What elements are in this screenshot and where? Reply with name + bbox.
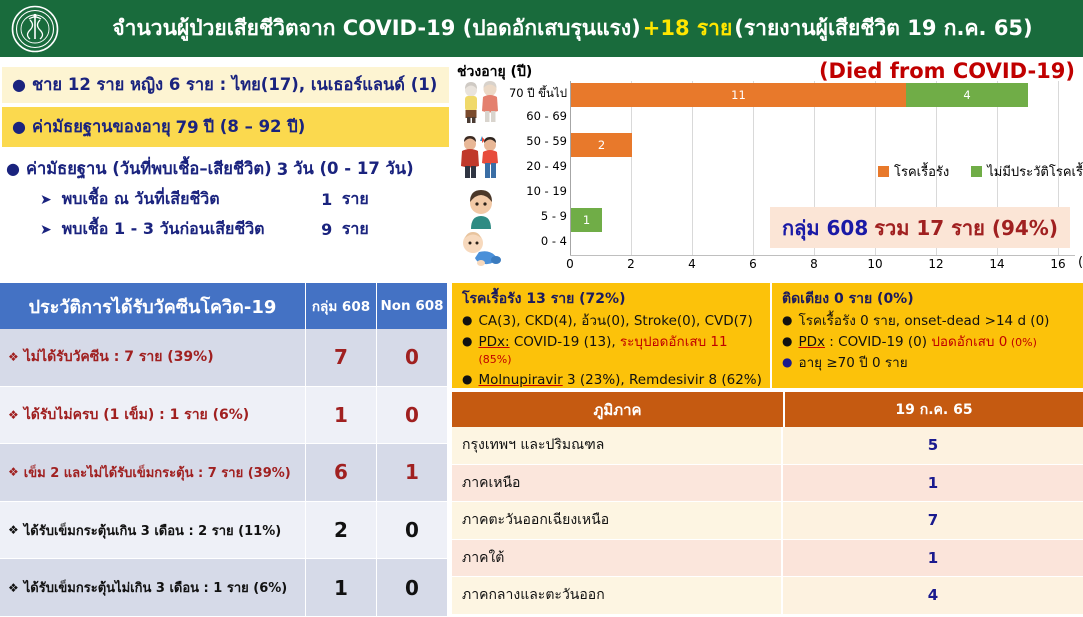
- drug-text: 3 (23%), Remdesivir 8 (62%): [563, 372, 762, 388]
- row-label: ❖ เข็ม 2 และไม่ได้รับเข็มกระตุ้น : 7 ราย…: [0, 444, 305, 501]
- row-value-non608: 0: [376, 329, 447, 386]
- cat-label: 50 - 59: [526, 134, 567, 148]
- column-header-non608: Non 608: [376, 283, 447, 329]
- summary-line2-value: 79: [176, 118, 199, 137]
- row-label: ❖ ได้รับเข็มกระตุ้นไม่เกิน 3 เดือน : 1 ร…: [0, 559, 305, 616]
- x-tick: 6: [749, 257, 757, 271]
- cat-label: 60 - 69: [526, 109, 567, 123]
- summary-line2-post: ปี (8 – 92 ปี): [204, 114, 306, 140]
- pdx-text: : COVID-19 (0): [825, 334, 927, 350]
- chart-plot-area: 11 4 2 1 0 2 4 6 8 10 12 14 16 (ราย) จำน…: [570, 81, 1075, 255]
- region-value: 5: [783, 427, 1083, 464]
- row-value-non608: 1: [376, 444, 447, 501]
- x-tick: 16: [1050, 257, 1065, 271]
- bullet-dot-icon: ●: [462, 334, 472, 350]
- row-value-608: 7: [305, 329, 376, 386]
- bullet-dot-icon: ●: [782, 355, 792, 371]
- summary-line3-value: 3: [277, 160, 288, 179]
- region-name: ภาคเหนือ: [452, 465, 783, 502]
- column-header-date: 19 ก.ค. 65: [785, 392, 1083, 427]
- arrow-right-icon: ➤: [40, 192, 52, 208]
- x-tick: 0: [566, 257, 574, 271]
- page-title-post: (รายงานผู้เสียชีวิต 19 ก.ค. 65): [734, 12, 1032, 45]
- row-label-text: ไม่ได้รับวัคซีน : 7 ราย (39%): [24, 346, 214, 368]
- pdx-red-pct: (85%): [478, 353, 511, 366]
- row-value-608: 2: [305, 502, 376, 559]
- chart-gridline: [753, 81, 754, 255]
- region-value: 1: [783, 540, 1083, 577]
- legend-label: ไม่มีประวัติโรคเรื้องรัง: [987, 161, 1083, 182]
- summary-sub-label: พบเชื้อ ณ วันที่เสียชีวิต: [62, 187, 312, 212]
- diamond-bullet-icon: ❖: [8, 350, 19, 364]
- column-header-history: ประวัติการได้รับวัคซีนโควิด-19: [0, 283, 305, 329]
- arrow-right-icon: ➤: [40, 222, 52, 238]
- chronic-box-item: ● PDx: COVID-19 (13), ระบุปอดอักเสบ 11 (…: [462, 334, 762, 368]
- thai-ministry-of-public-health-seal-icon: [10, 4, 60, 54]
- diamond-bullet-icon: ❖: [8, 408, 19, 422]
- bedridden-box-item: ● อายุ ≥70 ปี 0 ราย: [782, 355, 1075, 372]
- bar-70plus-chronic: 11: [571, 83, 906, 107]
- bar-5-9-nochronic: 1: [571, 208, 602, 232]
- summary-line2-pre: ค่ามัธยฐานของอายุ: [32, 114, 171, 140]
- bullet-dot-icon: ●: [6, 161, 20, 177]
- pdx-label: PDx: [798, 334, 825, 350]
- row-value-608: 1: [305, 559, 376, 616]
- region-value: 7: [783, 502, 1083, 539]
- pdx-red-text: ปอดอักเสบ 0: [927, 334, 1007, 350]
- table-row: ❖ เข็ม 2 และไม่ได้รับเข็มกระตุ้น : 7 ราย…: [0, 444, 447, 502]
- summary-line3-pre: ค่ามัธยฐาน (วันที่พบเชื้อ–เสียชีวิต): [26, 156, 272, 182]
- table-row: ภาคใต้ 1: [452, 540, 1083, 578]
- summary-sub-unit: ราย: [342, 217, 369, 242]
- page-title: จำนวนผู้ป่วยเสียชีวิตจาก COVID-19 (ปอดอั…: [70, 0, 1075, 57]
- pdx-red-text: ระบุปอดอักเสบ 11: [616, 334, 728, 350]
- bedridden-item-text: โรคเรื้อรัง 0 ราย, onset-dead >14 d (0): [798, 313, 1049, 330]
- table-row: กรุงเทพฯ และปริมณฑล 5: [452, 427, 1083, 465]
- chart-category-labels: 70 ปี ขึ้นไป 60 - 69 50 - 59 20 - 49 10 …: [507, 81, 567, 255]
- x-tick: 4: [688, 257, 696, 271]
- drug-label: Molnupiravir: [478, 372, 562, 388]
- diamond-bullet-icon: ❖: [8, 523, 19, 537]
- summary-sub-label: พบเชื้อ 1 - 3 วันก่อนเสียชีวิต: [62, 217, 312, 242]
- x-tick: 14: [989, 257, 1004, 271]
- table-row: ❖ ได้รับไม่ครบ (1 เข็ม) : 1 ราย (6%) 1 0: [0, 387, 447, 445]
- legend-label: โรคเรื้อรัง: [894, 161, 949, 182]
- bar-70plus-nochronic: 4: [906, 83, 1028, 107]
- baby-icon: [455, 229, 507, 269]
- callout-total-label: รวม 17 ราย (94%): [874, 212, 1058, 244]
- cat-label: 0 - 4: [541, 234, 567, 248]
- x-tick: 10: [867, 257, 882, 271]
- cat-label: 5 - 9: [541, 209, 567, 223]
- table-header-row: ประวัติการได้รับวัคซีนโควิด-19 กลุ่ม 608…: [0, 283, 447, 329]
- chart-legend: โรคเรื้อรัง ไม่มีประวัติโรคเรื้องรัง: [878, 161, 1083, 182]
- adults-icon: [455, 134, 507, 184]
- bar-50-59-chronic: 2: [571, 133, 632, 157]
- row-value-608: 1: [305, 387, 376, 444]
- age-group-deaths-chart: ช่วงอายุ (ปี) (Died from COVID-19): [452, 57, 1083, 283]
- chart-x-unit: (ราย): [1078, 251, 1083, 272]
- pdx-red-pct: (0%): [1007, 336, 1037, 349]
- pdx-text: COVID-19 (13),: [510, 334, 616, 350]
- x-tick: 2: [627, 257, 635, 271]
- bullet-dot-icon: ●: [782, 334, 792, 350]
- row-value-non608: 0: [376, 559, 447, 616]
- bullet-dot-icon: ●: [462, 372, 472, 388]
- legend-swatch-icon: [878, 166, 889, 177]
- chart-callout-608: กลุ่ม 608 รวม 17 ราย (94%): [770, 207, 1070, 248]
- row-label-text: ได้รับเข็มกระตุ้นเกิน 3 เดือน : 2 ราย (1…: [24, 520, 281, 541]
- bullet-dot-icon: ●: [462, 313, 472, 329]
- x-tick: 8: [810, 257, 818, 271]
- child-icon: [455, 189, 507, 231]
- cat-label: 10 - 19: [526, 184, 567, 198]
- cat-label: 20 - 49: [526, 159, 567, 173]
- x-tick: 12: [928, 257, 943, 271]
- row-label: ❖ ไม่ได้รับวัคซีน : 7 ราย (39%): [0, 329, 305, 386]
- summary-sub-item: ➤ พบเชื้อ 1 - 3 วันก่อนเสียชีวิต 9 ราย: [40, 217, 369, 242]
- table-row: ภาคตะวันออกเฉียงเหนือ 7: [452, 502, 1083, 540]
- vaccination-history-table: ประวัติการได้รับวัคซีนโควิด-19 กลุ่ม 608…: [0, 283, 447, 613]
- region-name: ภาคกลางและตะวันออก: [452, 577, 783, 614]
- region-value: 4: [783, 577, 1083, 614]
- pdx-label: PDx:: [478, 334, 509, 350]
- table-row: ภาคเหนือ 1: [452, 465, 1083, 503]
- chronic-box-item: ● CA(3), CKD(4), อ้วน(0), Stroke(0), CVD…: [462, 313, 762, 330]
- table-row: ภาคกลางและตะวันออก 4: [452, 577, 1083, 615]
- row-label-text: เข็ม 2 และไม่ได้รับเข็มกระตุ้น : 7 ราย (…: [24, 462, 291, 483]
- diamond-bullet-icon: ❖: [8, 581, 19, 595]
- summary-line-sex-nationality: ● ชาย 12 ราย หญิง 6 ราย : ไทย(17), เนเธอ…: [2, 67, 450, 103]
- region-value: 1: [783, 465, 1083, 502]
- summary-line-median-days: ● ค่ามัธยฐาน (วันที่พบเชื้อ–เสียชีวิต) 3…: [2, 153, 450, 185]
- chronic-box-item: ● Molnupiravir 3 (23%), Remdesivir 8 (62…: [462, 372, 762, 389]
- region-name: ภาคตะวันออกเฉียงเหนือ: [452, 502, 783, 539]
- diamond-bullet-icon: ❖: [8, 465, 19, 479]
- summary-sub-value: 1: [312, 190, 342, 209]
- row-value-non608: 0: [376, 387, 447, 444]
- callout-group-label: กลุ่ม 608: [782, 212, 868, 244]
- row-label-text: ได้รับเข็มกระตุ้นไม่เกิน 3 เดือน : 1 ราย…: [24, 577, 287, 598]
- summary-panel: ● ชาย 12 ราย หญิง 6 ราย : ไทย(17), เนเธอ…: [0, 57, 452, 283]
- summary-line-median-age: ● ค่ามัธยฐานของอายุ 79 ปี (8 – 92 ปี): [2, 107, 450, 147]
- chart-gridline: [692, 81, 693, 255]
- bedridden-box-item: ● โรคเรื้อรัง 0 ราย, onset-dead >14 d (0…: [782, 313, 1075, 330]
- bedridden-box: ติดเตียง 0 ราย (0%) ● โรคเรื้อรัง 0 ราย,…: [772, 283, 1083, 388]
- summary-line1-text: ชาย 12 ราย หญิง 6 ราย : ไทย(17), เนเธอร์…: [32, 72, 437, 98]
- table-row: ❖ ไม่ได้รับวัคซีน : 7 ราย (39%) 7 0: [0, 329, 447, 387]
- bullet-dot-icon: ●: [12, 77, 26, 93]
- table-row: ❖ ได้รับเข็มกระตุ้นเกิน 3 เดือน : 2 ราย …: [0, 502, 447, 560]
- bedridden-item-text: อายุ ≥70 ปี 0 ราย: [798, 355, 907, 372]
- region-name: ภาคใต้: [452, 540, 783, 577]
- page-title-pre: จำนวนผู้ป่วยเสียชีวิตจาก COVID-19 (ปอดอั…: [112, 12, 640, 45]
- bullet-dot-icon: ●: [782, 313, 792, 329]
- chronic-disease-box: โรคเรื้อรัง 13 ราย (72%) ● CA(3), CKD(4)…: [452, 283, 772, 388]
- cat-label: 70 ปี ขึ้นไป: [509, 85, 567, 103]
- row-label: ❖ ได้รับไม่ครบ (1 เข็ม) : 1 ราย (6%): [0, 387, 305, 444]
- column-header-608: กลุ่ม 608: [305, 283, 376, 329]
- region-deaths-table: ภูมิภาค 19 ก.ค. 65 กรุงเทพฯ และปริมณฑล 5…: [452, 392, 1083, 613]
- summary-sub-item: ➤ พบเชื้อ ณ วันที่เสียชีวิต 1 ราย: [40, 187, 369, 212]
- summary-sub-value: 9: [312, 220, 342, 239]
- chronic-item-text: CA(3), CKD(4), อ้วน(0), Stroke(0), CVD(7…: [478, 313, 752, 330]
- row-label-text: ได้รับไม่ครบ (1 เข็ม) : 1 ราย (6%): [24, 404, 249, 426]
- summary-line3-post: วัน (0 - 17 วัน): [293, 156, 413, 182]
- page-title-highlight: +18 ราย: [643, 12, 733, 45]
- column-header-region: ภูมิภาค: [452, 392, 785, 427]
- elderly-couple-icon: [455, 79, 507, 127]
- row-label: ❖ ได้รับเข็มกระตุ้นเกิน 3 เดือน : 2 ราย …: [0, 502, 305, 559]
- row-value-non608: 0: [376, 502, 447, 559]
- legend-item-chronic: โรคเรื้อรัง: [878, 161, 949, 182]
- row-value-608: 6: [305, 444, 376, 501]
- age-illustration-column: [455, 79, 507, 254]
- legend-item-nochronic: ไม่มีประวัติโรคเรื้องรัง: [971, 161, 1083, 182]
- bedridden-box-title: ติดเตียง 0 ราย (0%): [782, 288, 1075, 310]
- legend-swatch-icon: [971, 166, 982, 177]
- table-row: ❖ ได้รับเข็มกระตุ้นไม่เกิน 3 เดือน : 1 ร…: [0, 559, 447, 617]
- summary-sub-unit: ราย: [342, 187, 369, 212]
- chart-gridline: [631, 81, 632, 255]
- chronic-box-title: โรคเรื้อรัง 13 ราย (72%): [462, 288, 762, 310]
- region-name: กรุงเทพฯ และปริมณฑล: [452, 427, 783, 464]
- bullet-dot-icon: ●: [12, 119, 26, 135]
- chart-x-axis-line: [570, 255, 1075, 256]
- table-header-row: ภูมิภาค 19 ก.ค. 65: [452, 392, 1083, 427]
- chart-corner-note: (Died from COVID-19): [819, 59, 1075, 83]
- bedridden-box-item: ● PDx : COVID-19 (0) ปอดอักเสบ 0 (0%): [782, 334, 1075, 351]
